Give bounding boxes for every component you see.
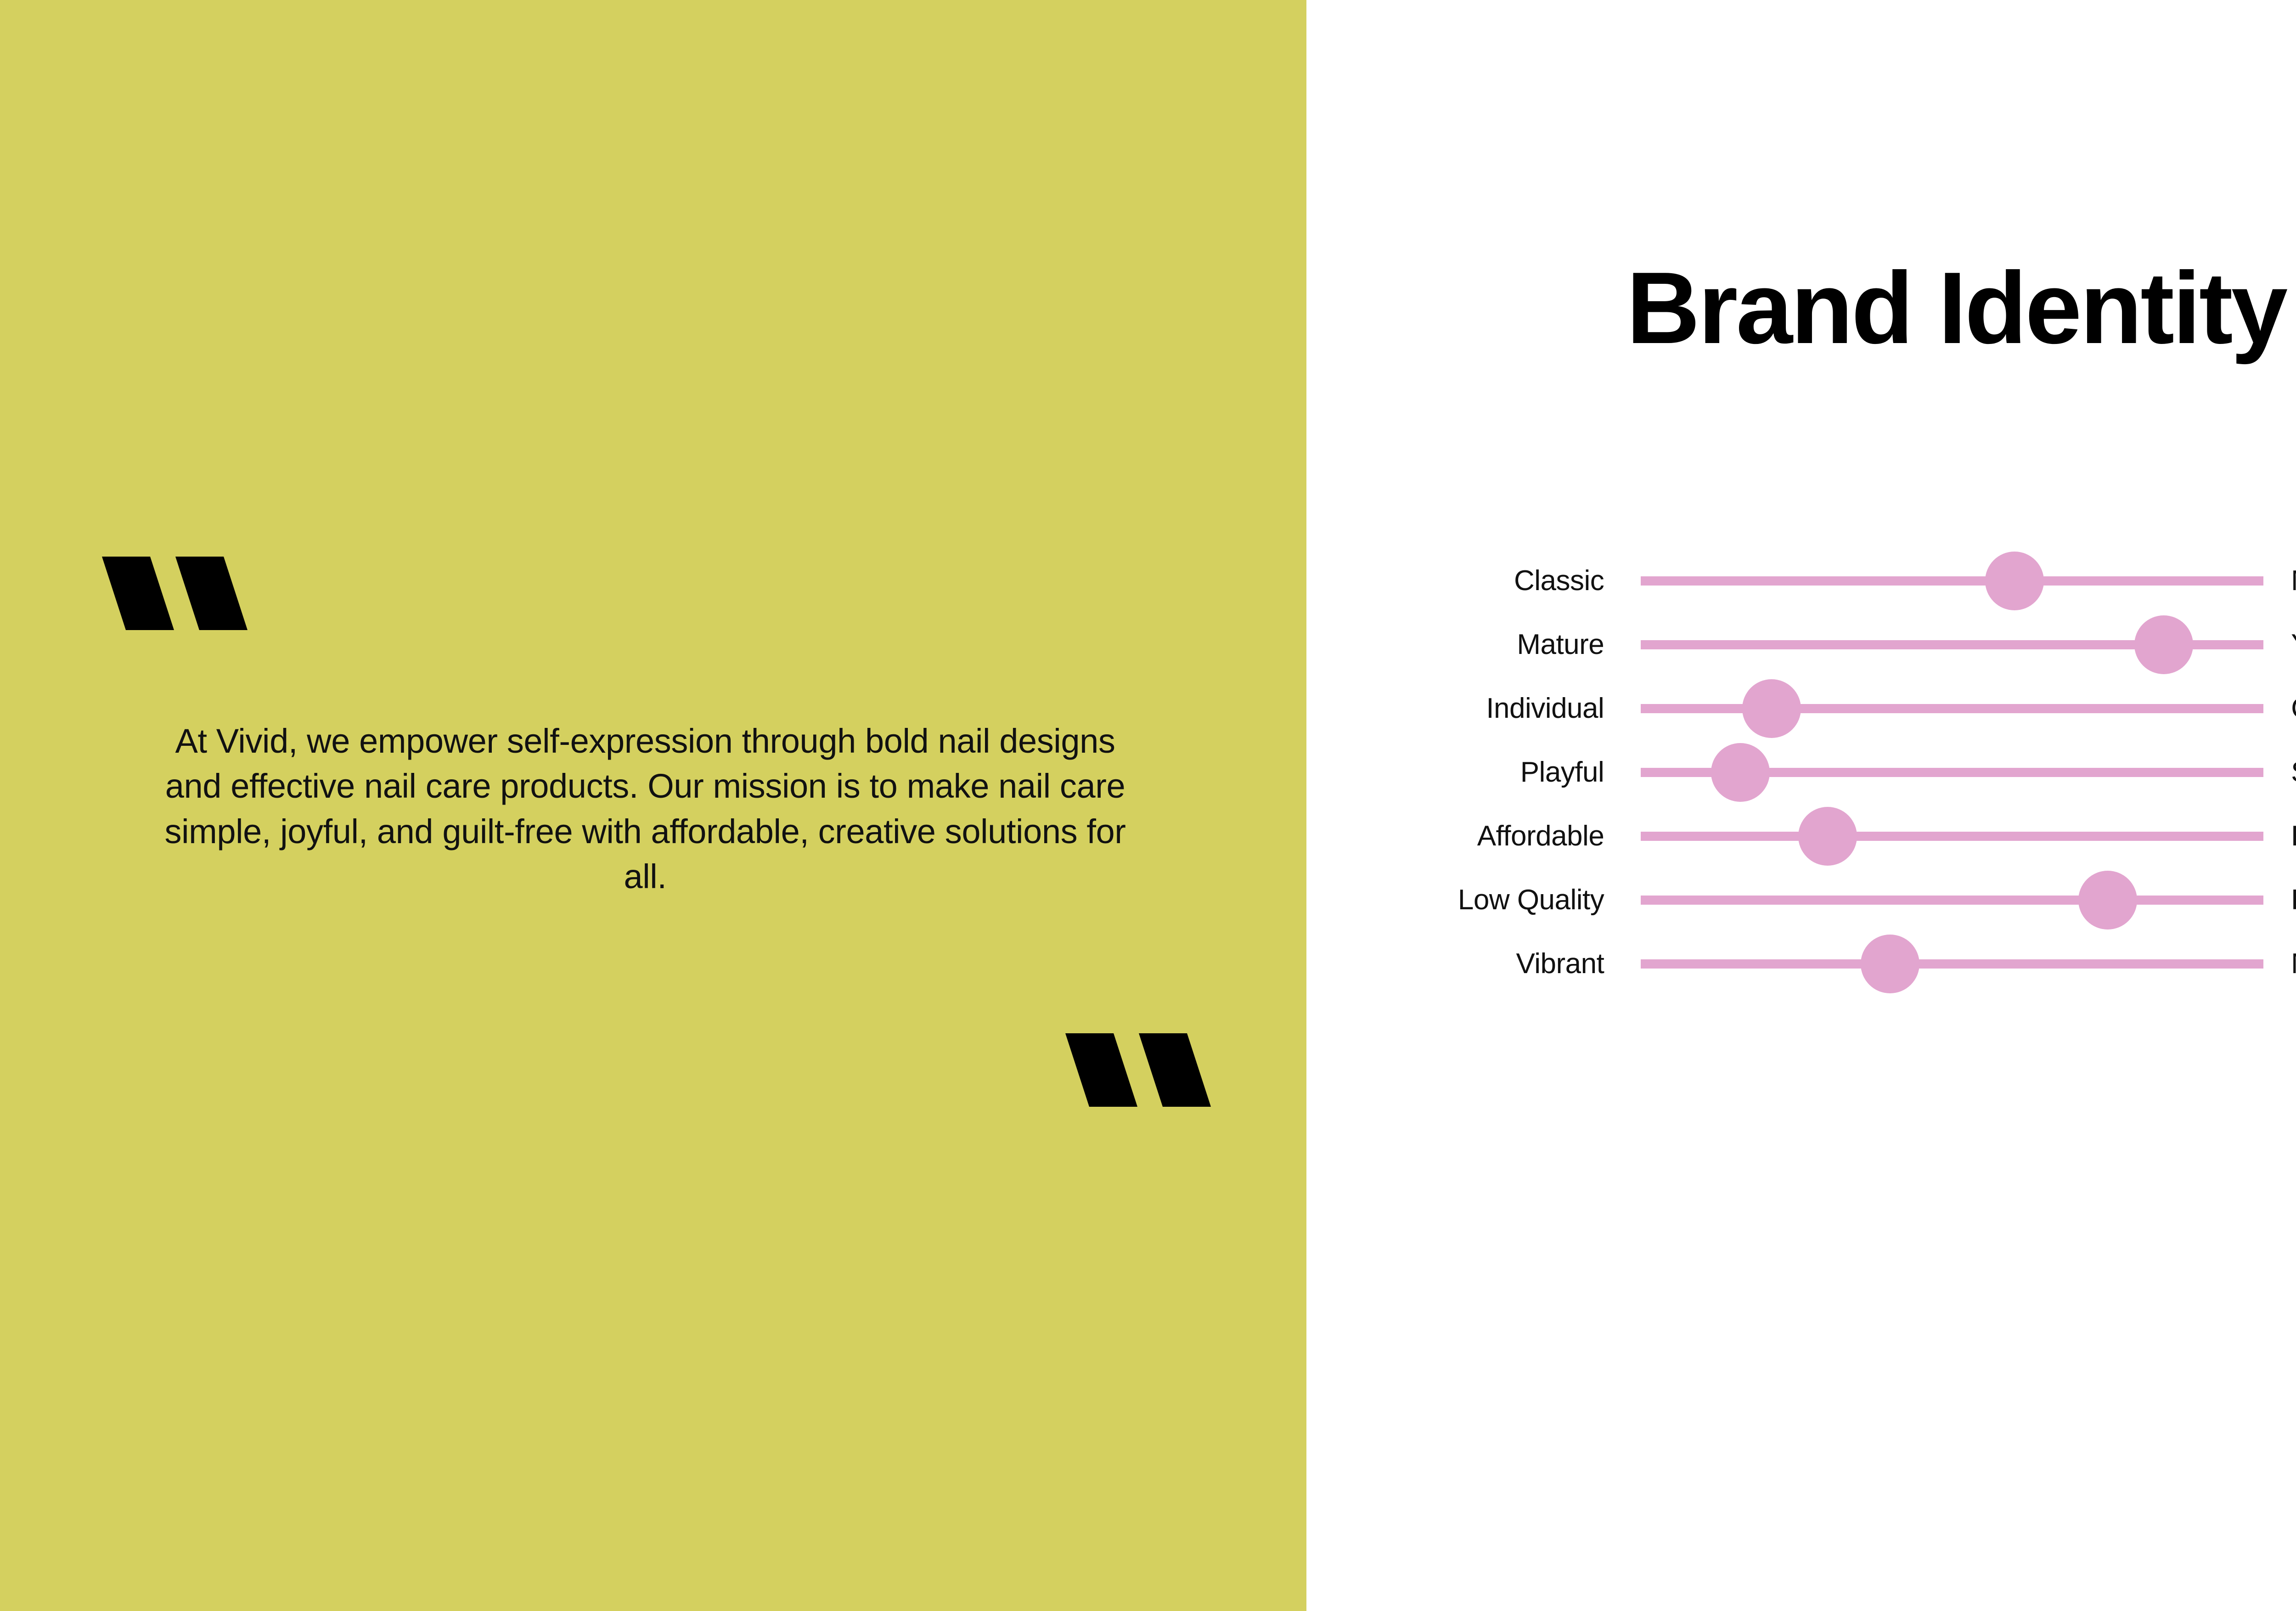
page-title: Brand Identity	[1421, 257, 2296, 359]
scale-left-label: Low Quality	[1362, 886, 1604, 914]
slider-track	[1641, 832, 2263, 841]
slider-thumb[interactable]	[1861, 935, 1919, 993]
scale-right-label: Monochrome	[2263, 950, 2296, 978]
scale-left-label: Vibrant	[1362, 950, 1604, 978]
scale-row: Individual Conformative	[1362, 676, 2296, 740]
slider-track-area[interactable]	[1641, 676, 2263, 740]
scale-right-label: Serious	[2263, 758, 2296, 787]
scale-left-label: Mature	[1362, 631, 1604, 659]
scale-right-label: Conformative	[2263, 694, 2296, 723]
slider-track	[1641, 959, 2263, 969]
slider-track-area[interactable]	[1641, 613, 2263, 676]
slider-thumb[interactable]	[1798, 807, 1857, 866]
scale-row: Classic Modern	[1362, 549, 2296, 613]
slider-thumb[interactable]	[2078, 871, 2137, 929]
left-color-panel: At Vivid, we empower self-expression thr…	[0, 0, 1306, 1611]
scale-right-label: Expensive	[2263, 822, 2296, 851]
quote-bar-2	[1139, 1033, 1211, 1107]
slider-track-area[interactable]	[1641, 740, 2263, 804]
slider-thumb[interactable]	[1711, 743, 1770, 802]
slider-track	[1641, 896, 2263, 905]
slider-track-area[interactable]	[1641, 549, 2263, 613]
quote-mark-close-icon	[1065, 1033, 1217, 1107]
scale-right-label: High Quality	[2263, 886, 2296, 914]
quote-bar-2	[175, 557, 248, 630]
slider-thumb[interactable]	[2134, 615, 2193, 674]
scale-row: Affordable Expensive	[1362, 804, 2296, 868]
slider-track-area[interactable]	[1641, 804, 2263, 868]
scale-row: Vibrant Monochrome	[1362, 932, 2296, 996]
slide-canvas: At Vivid, we empower self-expression thr…	[0, 0, 2296, 1611]
right-content-panel: Brand Identity Classic Modern Mature You…	[1306, 0, 2296, 1611]
scale-left-label: Affordable	[1362, 822, 1604, 851]
quote-bar-1	[102, 557, 174, 630]
slider-track	[1641, 704, 2263, 713]
scale-left-label: Playful	[1362, 758, 1604, 787]
scale-row: Playful Serious	[1362, 740, 2296, 804]
slider-thumb[interactable]	[1742, 679, 1801, 738]
slider-thumb[interactable]	[1985, 552, 2044, 610]
scale-row: Low Quality High Quality	[1362, 868, 2296, 932]
scale-right-label: Youthful	[2263, 631, 2296, 659]
brand-identity-scale: Classic Modern Mature Youthful Individua…	[1362, 549, 2296, 996]
scale-row: Mature Youthful	[1362, 613, 2296, 676]
slider-track	[1641, 576, 2263, 586]
scale-right-label: Modern	[2263, 567, 2296, 595]
mission-statement-text: At Vivid, we empower self-expression thr…	[156, 719, 1134, 900]
quote-mark-open-icon	[102, 557, 253, 630]
slider-track-area[interactable]	[1641, 932, 2263, 996]
scale-left-label: Individual	[1362, 694, 1604, 723]
slider-track-area[interactable]	[1641, 868, 2263, 932]
quote-bar-1	[1065, 1033, 1137, 1107]
scale-left-label: Classic	[1362, 567, 1604, 595]
